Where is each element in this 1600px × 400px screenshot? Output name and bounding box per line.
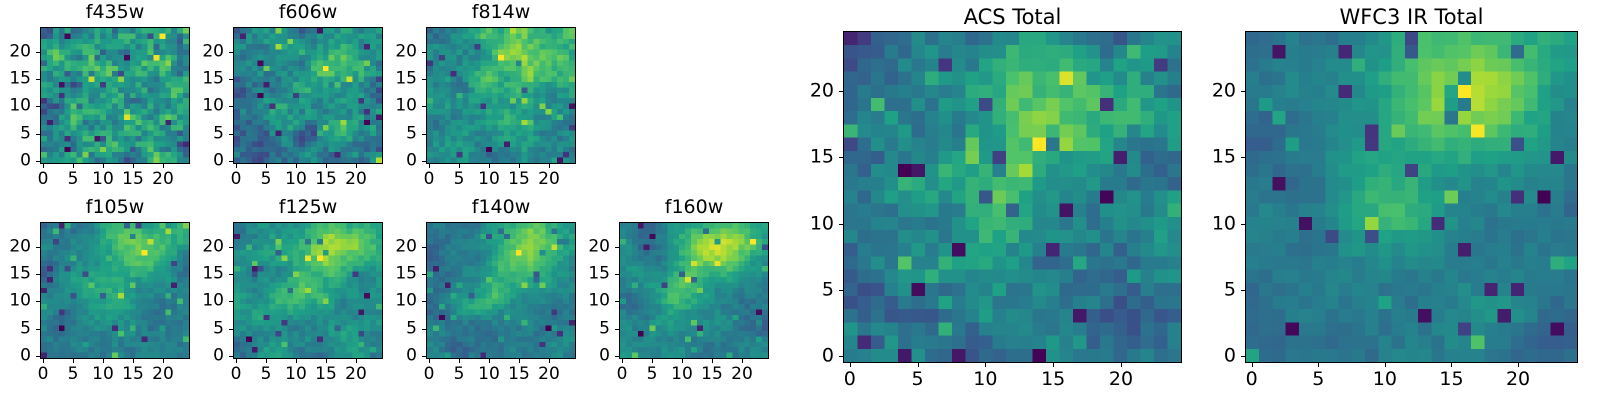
x-tick-f435w-4 — [163, 164, 164, 168]
y-tick-label-f435w-3: 15 — [0, 71, 31, 88]
y-tick-f105w-0 — [36, 356, 40, 357]
x-tick-f435w-1 — [73, 164, 74, 168]
y-tick-label-f814w-0: 0 — [364, 153, 417, 170]
y-tick-label-f435w-0: 0 — [0, 153, 31, 170]
x-tick-label-f105w-1: 5 — [68, 366, 79, 383]
y-tick-label-acs-total-1: 5 — [781, 280, 834, 299]
y-tick-label-acs-total-4: 20 — [781, 81, 834, 100]
x-tick-f105w-4 — [163, 359, 164, 363]
y-tick-label-acs-total-2: 10 — [781, 214, 834, 233]
x-tick-label-f814w-1: 5 — [454, 171, 465, 188]
y-tick-acs-total-3 — [839, 157, 843, 158]
y-tick-f814w-1 — [422, 134, 426, 135]
y-tick-acs-total-4 — [839, 91, 843, 92]
y-tick-f160w-2 — [615, 301, 619, 302]
y-tick-f814w-0 — [422, 161, 426, 162]
y-tick-f140w-4 — [422, 247, 426, 248]
y-tick-f435w-3 — [36, 79, 40, 80]
figure-canvas: f435w0510152005101520f606w05101520051015… — [0, 0, 1600, 400]
y-tick-label-f125w-4: 20 — [171, 238, 224, 255]
x-tick-label-f814w-0: 0 — [424, 171, 435, 188]
y-tick-acs-total-2 — [839, 224, 843, 225]
x-tick-f125w-4 — [356, 359, 357, 363]
x-tick-label-wfc3-ir-total-2: 10 — [1373, 370, 1397, 389]
x-tick-f125w-1 — [266, 359, 267, 363]
x-tick-wfc3-ir-total-0 — [1252, 363, 1253, 367]
y-tick-label-wfc3-ir-total-1: 5 — [1183, 280, 1236, 299]
x-tick-f125w-0 — [236, 359, 237, 363]
x-tick-label-acs-total-2: 10 — [973, 370, 997, 389]
y-tick-f125w-3 — [229, 274, 233, 275]
y-tick-label-f125w-0: 0 — [171, 348, 224, 365]
x-tick-f435w-2 — [103, 164, 104, 168]
x-tick-f814w-4 — [549, 164, 550, 168]
x-tick-label-f606w-3: 15 — [315, 171, 337, 188]
y-tick-label-wfc3-ir-total-4: 20 — [1183, 81, 1236, 100]
y-tick-label-f814w-1: 5 — [364, 125, 417, 142]
x-tick-f606w-3 — [326, 164, 327, 168]
y-tick-f105w-1 — [36, 329, 40, 330]
x-tick-f105w-1 — [73, 359, 74, 363]
x-tick-f105w-3 — [133, 359, 134, 363]
y-tick-label-f105w-1: 5 — [0, 320, 31, 337]
x-tick-f160w-4 — [742, 359, 743, 363]
y-tick-label-f160w-4: 20 — [557, 238, 610, 255]
panel-f814w: f814w0510152005101520 — [364, 1, 586, 194]
x-tick-f814w-1 — [459, 164, 460, 168]
panel-f160w: f160w0510152005101520 — [557, 196, 779, 389]
x-tick-label-f160w-0: 0 — [617, 366, 628, 383]
y-tick-label-f140w-0: 0 — [364, 348, 417, 365]
x-tick-label-wfc3-ir-total-4: 20 — [1506, 370, 1530, 389]
x-tick-acs-total-0 — [850, 363, 851, 367]
x-tick-label-f125w-2: 10 — [285, 366, 307, 383]
x-tick-label-acs-total-4: 20 — [1109, 370, 1133, 389]
y-tick-f606w-4 — [229, 52, 233, 53]
x-tick-f140w-0 — [429, 359, 430, 363]
y-tick-label-f140w-1: 5 — [364, 320, 417, 337]
panel-title-f606w: f606w — [233, 3, 383, 22]
heatmap-image-f140w — [426, 222, 576, 359]
panel-title-f105w: f105w — [40, 198, 190, 217]
y-tick-label-acs-total-3: 15 — [781, 148, 834, 167]
x-tick-acs-total-2 — [985, 363, 986, 367]
x-tick-label-f435w-0: 0 — [38, 171, 49, 188]
y-tick-label-f160w-0: 0 — [557, 348, 610, 365]
x-tick-label-f140w-3: 15 — [508, 366, 530, 383]
x-tick-f814w-3 — [519, 164, 520, 168]
y-tick-f140w-3 — [422, 274, 426, 275]
y-tick-f606w-2 — [229, 106, 233, 107]
x-tick-label-f160w-4: 20 — [731, 366, 753, 383]
x-tick-label-acs-total-3: 15 — [1041, 370, 1065, 389]
x-tick-label-acs-total-1: 5 — [912, 370, 924, 389]
heatmap-image-f435w — [40, 27, 190, 164]
x-tick-f140w-2 — [489, 359, 490, 363]
x-tick-f160w-3 — [712, 359, 713, 363]
panel-title-f125w: f125w — [233, 198, 383, 217]
x-tick-label-f140w-2: 10 — [478, 366, 500, 383]
x-tick-label-acs-total-0: 0 — [844, 370, 856, 389]
x-tick-label-wfc3-ir-total-1: 5 — [1312, 370, 1324, 389]
x-tick-label-f606w-0: 0 — [231, 171, 242, 188]
y-tick-f435w-0 — [36, 161, 40, 162]
panel-title-acs-total: ACS Total — [843, 7, 1182, 28]
y-tick-wfc3-ir-total-3 — [1241, 157, 1245, 158]
y-tick-wfc3-ir-total-4 — [1241, 91, 1245, 92]
panel-f125w: f125w0510152005101520 — [171, 196, 393, 389]
x-tick-f125w-2 — [296, 359, 297, 363]
x-tick-acs-total-3 — [1053, 363, 1054, 367]
y-tick-f606w-0 — [229, 161, 233, 162]
y-tick-f140w-1 — [422, 329, 426, 330]
x-tick-label-f814w-3: 15 — [508, 171, 530, 188]
y-tick-label-f125w-3: 15 — [171, 266, 224, 283]
y-tick-label-f105w-2: 10 — [0, 293, 31, 310]
y-tick-label-f814w-2: 10 — [364, 98, 417, 115]
y-tick-label-f140w-4: 20 — [364, 238, 417, 255]
x-tick-wfc3-ir-total-3 — [1451, 363, 1452, 367]
panel-title-f140w: f140w — [426, 198, 576, 217]
y-tick-f435w-4 — [36, 52, 40, 53]
x-tick-f606w-1 — [266, 164, 267, 168]
heatmap-image-f125w — [233, 222, 383, 359]
y-tick-f105w-3 — [36, 274, 40, 275]
panel-f435w: f435w0510152005101520 — [0, 1, 200, 194]
x-tick-label-f160w-1: 5 — [647, 366, 658, 383]
panel-title-f435w: f435w — [40, 3, 190, 22]
y-tick-wfc3-ir-total-1 — [1241, 290, 1245, 291]
x-tick-f435w-0 — [43, 164, 44, 168]
y-tick-label-f606w-2: 10 — [171, 98, 224, 115]
y-tick-label-f105w-0: 0 — [0, 348, 31, 365]
panel-f140w: f140w0510152005101520 — [364, 196, 586, 389]
heatmap-image-f814w — [426, 27, 576, 164]
x-tick-label-wfc3-ir-total-0: 0 — [1246, 370, 1258, 389]
y-tick-label-f606w-1: 5 — [171, 125, 224, 142]
x-tick-f160w-1 — [652, 359, 653, 363]
heatmap-image-wfc3-ir-total — [1245, 31, 1578, 363]
y-tick-label-f814w-3: 15 — [364, 71, 417, 88]
x-tick-label-f140w-0: 0 — [424, 366, 435, 383]
panel-wfc3-ir-total: WFC3 IR Total0510152005101520 — [1183, 5, 1588, 393]
y-tick-f140w-2 — [422, 301, 426, 302]
y-tick-label-f105w-4: 20 — [0, 238, 31, 255]
y-tick-f125w-1 — [229, 329, 233, 330]
y-tick-f125w-4 — [229, 247, 233, 248]
x-tick-acs-total-4 — [1121, 363, 1122, 367]
y-tick-label-f435w-1: 5 — [0, 125, 31, 142]
y-tick-f105w-2 — [36, 301, 40, 302]
y-tick-f606w-1 — [229, 134, 233, 135]
y-tick-label-f125w-1: 5 — [171, 320, 224, 337]
x-tick-label-f160w-3: 15 — [701, 366, 723, 383]
heatmap-image-acs-total — [843, 31, 1182, 363]
x-tick-label-wfc3-ir-total-3: 15 — [1439, 370, 1463, 389]
y-tick-acs-total-1 — [839, 290, 843, 291]
y-tick-label-f160w-1: 5 — [557, 320, 610, 337]
x-tick-f606w-2 — [296, 164, 297, 168]
x-tick-label-f105w-2: 10 — [92, 366, 114, 383]
y-tick-label-wfc3-ir-total-3: 15 — [1183, 148, 1236, 167]
y-tick-label-f435w-2: 10 — [0, 98, 31, 115]
panel-title-wfc3-ir-total: WFC3 IR Total — [1245, 7, 1578, 28]
y-tick-f125w-2 — [229, 301, 233, 302]
heatmap-image-f160w — [619, 222, 769, 359]
panel-acs-total: ACS Total0510152005101520 — [781, 5, 1192, 393]
y-tick-label-f160w-3: 15 — [557, 266, 610, 283]
x-tick-label-f125w-3: 15 — [315, 366, 337, 383]
y-tick-label-f140w-3: 15 — [364, 266, 417, 283]
x-tick-label-f606w-1: 5 — [261, 171, 272, 188]
x-tick-f606w-0 — [236, 164, 237, 168]
y-tick-f105w-4 — [36, 247, 40, 248]
x-tick-label-f140w-1: 5 — [454, 366, 465, 383]
y-tick-label-wfc3-ir-total-2: 10 — [1183, 214, 1236, 233]
y-tick-f125w-0 — [229, 356, 233, 357]
x-tick-label-f105w-0: 0 — [38, 366, 49, 383]
x-tick-f140w-3 — [519, 359, 520, 363]
y-tick-f814w-4 — [422, 52, 426, 53]
panel-title-f814w: f814w — [426, 3, 576, 22]
panel-f606w: f606w0510152005101520 — [171, 1, 393, 194]
x-tick-wfc3-ir-total-4 — [1518, 363, 1519, 367]
y-tick-label-f814w-4: 20 — [364, 43, 417, 60]
y-tick-label-acs-total-0: 0 — [781, 347, 834, 366]
y-tick-f160w-0 — [615, 356, 619, 357]
y-tick-f814w-3 — [422, 79, 426, 80]
x-tick-f140w-1 — [459, 359, 460, 363]
y-tick-f814w-2 — [422, 106, 426, 107]
y-tick-f160w-4 — [615, 247, 619, 248]
y-tick-label-f606w-4: 20 — [171, 43, 224, 60]
x-tick-f160w-0 — [622, 359, 623, 363]
x-tick-label-f814w-4: 20 — [538, 171, 560, 188]
y-tick-label-f435w-4: 20 — [0, 43, 31, 60]
x-tick-wfc3-ir-total-1 — [1318, 363, 1319, 367]
x-tick-label-f435w-2: 10 — [92, 171, 114, 188]
x-tick-label-f160w-2: 10 — [671, 366, 693, 383]
panel-f105w: f105w0510152005101520 — [0, 196, 200, 389]
y-tick-acs-total-0 — [839, 356, 843, 357]
x-tick-f105w-0 — [43, 359, 44, 363]
panel-title-f160w: f160w — [619, 198, 769, 217]
x-tick-wfc3-ir-total-2 — [1385, 363, 1386, 367]
x-tick-label-f435w-3: 15 — [122, 171, 144, 188]
y-tick-f435w-2 — [36, 106, 40, 107]
x-tick-label-f435w-1: 5 — [68, 171, 79, 188]
y-tick-label-f105w-3: 15 — [0, 266, 31, 283]
y-tick-f140w-0 — [422, 356, 426, 357]
y-tick-label-wfc3-ir-total-0: 0 — [1183, 347, 1236, 366]
heatmap-image-f105w — [40, 222, 190, 359]
y-tick-wfc3-ir-total-0 — [1241, 356, 1245, 357]
x-tick-f125w-3 — [326, 359, 327, 363]
x-tick-acs-total-1 — [918, 363, 919, 367]
y-tick-label-f606w-0: 0 — [171, 153, 224, 170]
x-tick-label-f606w-2: 10 — [285, 171, 307, 188]
y-tick-f606w-3 — [229, 79, 233, 80]
y-tick-label-f606w-3: 15 — [171, 71, 224, 88]
x-tick-f435w-3 — [133, 164, 134, 168]
y-tick-label-f140w-2: 10 — [364, 293, 417, 310]
x-tick-f814w-2 — [489, 164, 490, 168]
x-tick-f606w-4 — [356, 164, 357, 168]
x-tick-label-f125w-0: 0 — [231, 366, 242, 383]
heatmap-image-f606w — [233, 27, 383, 164]
y-tick-f160w-1 — [615, 329, 619, 330]
x-tick-label-f814w-2: 10 — [478, 171, 500, 188]
y-tick-label-f160w-2: 10 — [557, 293, 610, 310]
y-tick-wfc3-ir-total-2 — [1241, 224, 1245, 225]
x-tick-label-f125w-1: 5 — [261, 366, 272, 383]
x-tick-f160w-2 — [682, 359, 683, 363]
x-tick-label-f105w-3: 15 — [122, 366, 144, 383]
x-tick-f814w-0 — [429, 164, 430, 168]
y-tick-label-f125w-2: 10 — [171, 293, 224, 310]
y-tick-f160w-3 — [615, 274, 619, 275]
y-tick-f435w-1 — [36, 134, 40, 135]
x-tick-f105w-2 — [103, 359, 104, 363]
x-tick-f140w-4 — [549, 359, 550, 363]
